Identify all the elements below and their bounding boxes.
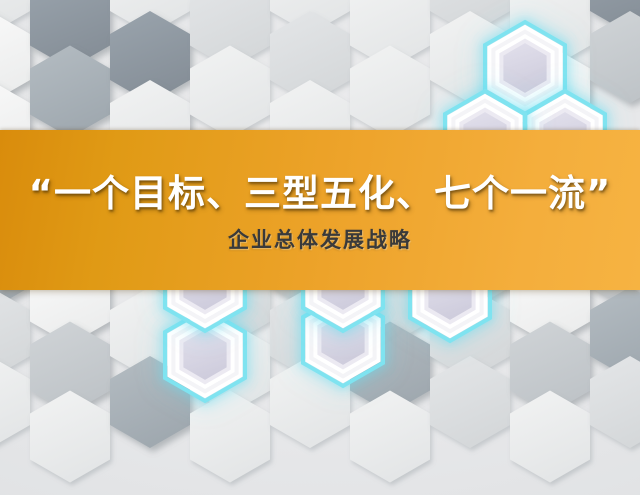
hexagon-tile [0, 356, 30, 448]
hexagon-tile [510, 391, 590, 483]
slide-canvas: “一个目标、三型五化、七个一流” 企业总体发展战略 [0, 0, 640, 495]
hexagon-tile [30, 46, 110, 138]
page-title: “一个目标、三型五化、七个一流” [29, 173, 612, 214]
hexagon-tile [190, 46, 270, 138]
hexagon-tile [590, 11, 640, 103]
hexagon-tile [350, 391, 430, 483]
hexagon-tile [190, 391, 270, 483]
page-subtitle: 企业总体发展战略 [228, 228, 412, 253]
hexagon-tile [350, 46, 430, 138]
hexagon-tile [30, 391, 110, 483]
hexagon-tile [590, 356, 640, 448]
hexagon-tile [430, 356, 510, 448]
title-banner: “一个目标、三型五化、七个一流” 企业总体发展战略 [0, 130, 640, 290]
